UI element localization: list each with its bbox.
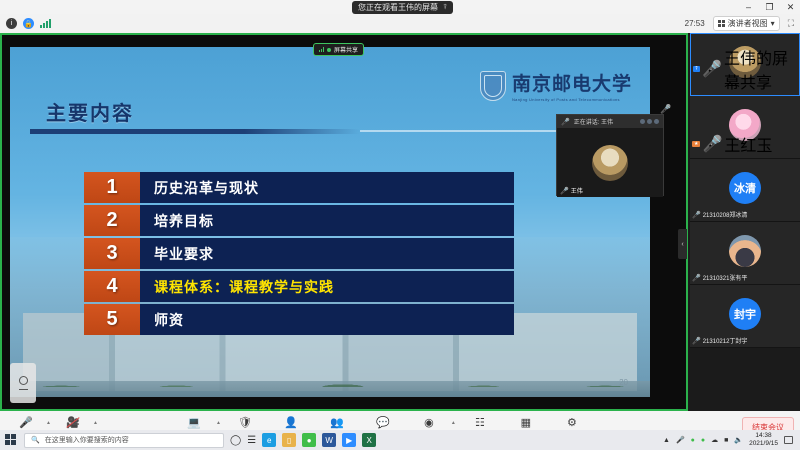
maximize-icon[interactable]: ❐ [764, 1, 775, 13]
apps-icon: ▦ [521, 416, 531, 429]
search-icon: 🔍 [31, 436, 40, 444]
wechat-tray-icon[interactable]: ● [691, 437, 695, 444]
annotation-toolbar[interactable] [10, 363, 36, 403]
tree-line [10, 345, 650, 387]
sidebar-collapse-button[interactable]: ‹ [678, 229, 687, 259]
word-icon[interactable]: W [322, 433, 336, 447]
active-speaker-label: 正在讲话: 王伟 [574, 117, 613, 126]
slide-page-number: 20 [619, 378, 628, 387]
floating-window-video: 🎤 王伟 [557, 128, 663, 197]
zoom-window: i 🔒 27:53 演讲者视图 ▾ ⛶ 屏幕共享 [0, 14, 800, 430]
floating-speaker-window[interactable]: 🎤 正在讲话: 王伟 🎤 王伟 [556, 114, 664, 196]
breakout-rooms-icon: ☷ [475, 416, 485, 429]
avatar [592, 145, 628, 181]
mic-off-icon: 🎤 [692, 274, 701, 282]
shield-icon: 🛡 [238, 416, 252, 429]
chevron-down-icon: ▾ [771, 19, 775, 28]
start-button[interactable] [5, 434, 18, 447]
toast-label: 您正在观看王伟的屏幕 [358, 2, 438, 13]
mic-on-icon: 🎤 [702, 134, 722, 154]
participant-tile-2[interactable]: 冰清 🎤 21310208郑冰清 [690, 159, 800, 222]
green-dot-icon[interactable]: ● [701, 437, 705, 444]
agenda-label: 师资 [140, 304, 514, 335]
agenda-number: 5 [84, 304, 140, 335]
mic-on-icon: 🎤 [561, 118, 570, 126]
participant-name: 🎤 21310208郑冰清 [692, 210, 747, 219]
host-badge: ★ [692, 141, 700, 147]
mic-on-icon: 🎤 [702, 59, 722, 79]
title-underline [30, 129, 360, 134]
search-input[interactable]: 🔍 在这里输入你要搜索的内容 [24, 433, 224, 448]
search-placeholder: 在这里输入你要搜索的内容 [45, 435, 129, 445]
screen-root: – ❐ ✕ 您正在观看王伟的屏幕 ⍒ i 🔒 27:53 演讲者视图 ▾ [0, 0, 800, 450]
participants-icon: 👥 [330, 416, 344, 429]
agenda-item-1: 1 历史沿革与现状 [84, 172, 514, 203]
participant-tile-4[interactable]: 封宇 🎤 21310212丁封宇 [690, 285, 800, 348]
volume-icon[interactable]: 🔈 [734, 436, 743, 444]
participant-name: 🎤 21310321张有平 [692, 273, 747, 282]
screen-share-badge: ⍒ [693, 66, 700, 72]
presentation-slide: 主要内容 南京邮电大学 Nanjing University of Posts … [10, 47, 650, 397]
record-icon: ◉ [424, 416, 434, 429]
share-options-caret-icon[interactable]: ▲ [216, 420, 221, 426]
edge-icon[interactable]: e [262, 433, 276, 447]
view-mode-selector[interactable]: 演讲者视图 ▾ [713, 16, 780, 31]
logo-english-name: Nanjing University of Posts and Telecomm… [512, 97, 632, 102]
zoom-icon[interactable]: ▶ [342, 433, 356, 447]
pointer-icon[interactable] [19, 376, 28, 385]
video-options-caret-icon[interactable]: ▲ [93, 420, 98, 426]
agenda-list: 1 历史沿革与现状 2 培养目标 3 毕业要求 4 课程体系：课程教学与实践 [84, 172, 514, 337]
chat-icon: 💬 [376, 416, 390, 429]
share-screen-icon: ⍒ [443, 4, 447, 12]
agenda-number: 3 [84, 238, 140, 269]
participant-name-label: 王红玉 [724, 132, 772, 156]
share-screen-icon: 💻 [187, 416, 201, 429]
agenda-label: 课程体系：课程教学与实践 [140, 271, 514, 302]
participant-name-label: 21310212丁封宇 [703, 336, 748, 345]
windows-taskbar: 🔍 在这里输入你要搜索的内容 ◯ ☰ e ▯ ● W ▶ X ▲ 🎤 ● ● ☁… [0, 430, 800, 450]
camera-off-icon: 🎥 [66, 416, 80, 429]
wechat-icon[interactable]: ● [302, 433, 316, 447]
agenda-item-3: 3 毕业要求 [84, 238, 514, 269]
agenda-item-4: 4 课程体系：课程教学与实践 [84, 271, 514, 302]
avatar: 封宇 [729, 298, 761, 330]
share-indicator-label: 屏幕共享 [334, 45, 358, 54]
mic-tray-icon[interactable]: 🎤 [676, 436, 685, 444]
signal-bars-icon[interactable] [40, 19, 51, 28]
university-logo: 南京邮电大学 Nanjing University of Posts and T… [480, 69, 632, 102]
logo-chinese-name: 南京邮电大学 [512, 69, 632, 96]
shield-icon[interactable]: 🔒 [23, 18, 34, 29]
slide-title: 主要内容 [46, 97, 134, 126]
participant-name: 🎤 21310212丁封宇 [692, 336, 747, 345]
participant-name-label: 21310321张有平 [703, 273, 748, 282]
signal-bars-icon [319, 47, 324, 52]
file-explorer-icon[interactable]: ▯ [282, 433, 296, 447]
mic-off-icon: 🎤 [692, 211, 701, 219]
window-controls[interactable]: – ❐ ✕ [743, 1, 796, 13]
participant-tile-1[interactable]: ★ 🎤 王红玉 [690, 96, 800, 159]
window-dots-icon [640, 119, 659, 124]
participant-name: 🎤 王伟 [560, 186, 583, 195]
notification-icon[interactable] [784, 436, 793, 444]
share-tag: ⍒ 🎤 王伟的屏幕共享 [693, 45, 799, 93]
info-icon[interactable]: i [6, 18, 17, 29]
chevron-up-icon[interactable]: ▲ [663, 437, 670, 444]
gear-icon: ⚙ [567, 416, 577, 429]
minimize-icon[interactable]: – [743, 1, 754, 13]
mic-indicator-icon: 🎤 [660, 104, 671, 115]
grid-view-icon [718, 20, 725, 27]
agenda-number: 1 [84, 172, 140, 203]
cortana-icon[interactable]: ◯ [230, 435, 241, 446]
participant-tile-0[interactable]: ⍒ 🎤 王伟的屏幕共享 [690, 33, 800, 96]
meeting-timer: 27:53 [685, 19, 705, 28]
participant-tile-3[interactable]: 🎤 21310321张有平 [690, 222, 800, 285]
agenda-number: 2 [84, 205, 140, 236]
clock-date: 2021/9/15 [749, 440, 778, 448]
shared-screen-stage[interactable]: 主要内容 南京邮电大学 Nanjing University of Posts … [2, 35, 686, 409]
participant-name-label: 21310208郑冰清 [703, 210, 748, 219]
agenda-number: 4 [84, 271, 140, 302]
system-tray: ▲ 🎤 ● ● ☁ ■ 🔈 14:38 2021/9/15 [663, 432, 795, 448]
agenda-label: 历史沿革与现状 [140, 172, 514, 203]
agenda-item-5: 5 师资 [84, 304, 514, 335]
shield-logo-icon [480, 71, 506, 101]
viewing-screen-toast: 您正在观看王伟的屏幕 ⍒ [352, 1, 453, 14]
clock-time: 14:38 [749, 432, 778, 440]
host-tag: ★ 🎤 王红玉 [692, 132, 772, 156]
close-icon[interactable]: ✕ [785, 1, 796, 13]
network-icon[interactable]: ☁ [711, 436, 718, 444]
excel-icon[interactable]: X [362, 433, 376, 447]
record-options-caret-icon[interactable]: ▲ [451, 420, 456, 426]
agenda-item-2: 2 培养目标 [84, 205, 514, 236]
invite-icon: 👤 [284, 416, 298, 429]
participants-sidebar[interactable]: ⍒ 🎤 王伟的屏幕共享 ★ 🎤 王红玉 冰清 🎤 21310208郑冰清 [690, 33, 800, 411]
view-mode-label: 演讲者视图 [728, 18, 768, 29]
taskbar-clock[interactable]: 14:38 2021/9/15 [749, 432, 778, 448]
recording-dot-icon [327, 48, 331, 52]
meeting-bar-right: 27:53 演讲者视图 ▾ ⛶ [685, 16, 800, 31]
floating-window-header: 🎤 正在讲话: 王伟 [557, 115, 663, 128]
screen-share-indicator[interactable]: 屏幕共享 [313, 43, 364, 56]
logo-text: 南京邮电大学 Nanjing University of Posts and T… [512, 69, 632, 102]
agenda-label: 培养目标 [140, 205, 514, 236]
fullscreen-icon[interactable]: ⛶ [788, 18, 794, 29]
avatar: 冰清 [729, 172, 761, 204]
mic-on-icon: 🎤 [560, 187, 569, 195]
meeting-top-bar: i 🔒 27:53 演讲者视图 ▾ ⛶ [0, 14, 800, 33]
drag-handle-icon[interactable] [19, 389, 28, 390]
avatar [729, 235, 761, 267]
participant-name-label: 王伟 [571, 186, 583, 195]
meeting-status-icons: i 🔒 [0, 18, 51, 29]
task-view-icon[interactable]: ☰ [247, 435, 256, 446]
mic-icon: 🎤 [19, 416, 33, 429]
mic-off-icon: 🎤 [692, 337, 701, 345]
participant-name-label: 王伟的屏幕共享 [724, 45, 799, 93]
agenda-label: 毕业要求 [140, 238, 514, 269]
battery-icon[interactable]: ■ [724, 437, 728, 444]
